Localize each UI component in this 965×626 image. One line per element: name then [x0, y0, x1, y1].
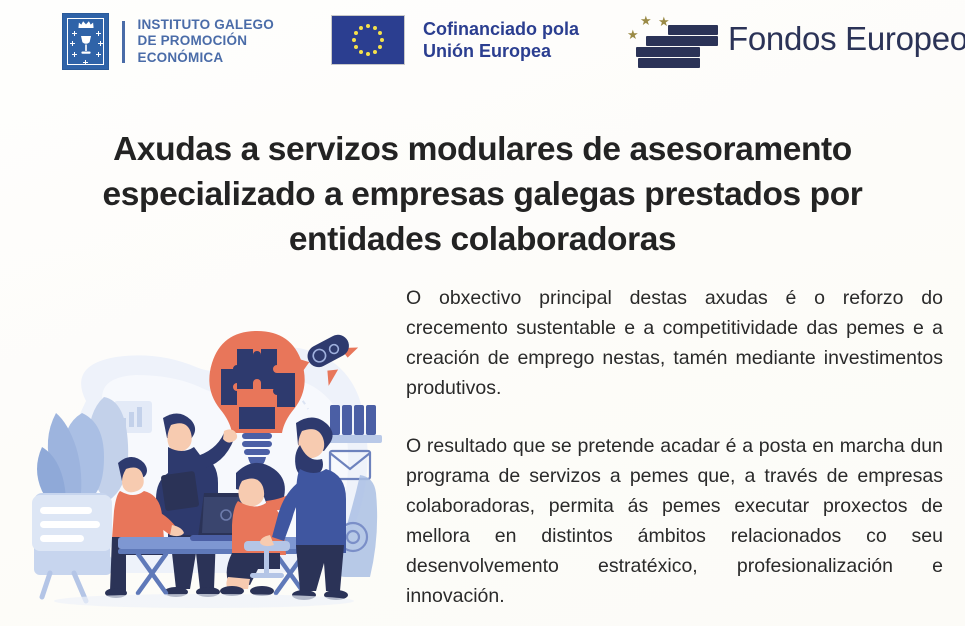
- team-collaboration-illustration: [8, 305, 400, 620]
- gold-star-icon: ★: [627, 28, 639, 41]
- paragraph-result: O resultado que se pretende acadar é a p…: [406, 431, 943, 611]
- eu-star-icon: [354, 45, 358, 49]
- eu-logo-text: Cofinanciado pola Unión Europea: [423, 18, 579, 62]
- eu-star-icon: [352, 38, 356, 42]
- title-line-1: Axudas a servizos modulares de asesorame…: [40, 127, 925, 172]
- igape-logo-text: INSTITUTO GALEGO DE PROMOCIÓN ECONÓMICA: [138, 17, 274, 67]
- galicia-coat-of-arms-icon: [62, 13, 109, 70]
- crown-icon: [77, 20, 94, 28]
- eu-star-icon: [378, 31, 382, 35]
- igape-logo: INSTITUTO GALEGO DE PROMOCIÓN ECONÓMICA: [62, 13, 274, 70]
- stair-bar: [668, 25, 718, 35]
- ground-shadow: [54, 594, 354, 608]
- igape-line-1: INSTITUTO GALEGO: [138, 17, 274, 34]
- eu-star-icon: [366, 24, 370, 28]
- logo-divider: [122, 21, 125, 63]
- gold-star-icon: ★: [640, 14, 652, 27]
- title-line-2: especializado a empresas galegas prestad…: [40, 172, 925, 217]
- title-line-3: entidades colaboradoras: [40, 217, 925, 262]
- stair-bar: [682, 47, 700, 57]
- fondos-europeos-logo: ★ ★ ★ Fondos Europeos: [622, 8, 965, 70]
- eu-star-icon: [373, 50, 377, 54]
- fondos-europeos-stairs-icon: ★ ★ ★: [622, 8, 718, 70]
- eu-line-1: Cofinanciado pola: [423, 18, 579, 40]
- chalice-icon: [78, 34, 94, 56]
- face: [122, 468, 144, 493]
- face: [167, 423, 191, 452]
- eu-star-icon: [373, 26, 377, 30]
- eu-star-icon: [380, 38, 384, 42]
- igape-line-3: ECONÓMICA: [138, 50, 274, 67]
- eu-cofinancing-logo: Cofinanciado pola Unión Europea: [331, 15, 579, 65]
- shirt: [296, 469, 346, 553]
- logo-bar: INSTITUTO GALEGO DE PROMOCIÓN ECONÓMICA …: [0, 0, 965, 88]
- eu-star-icon: [366, 52, 370, 56]
- office-chair-icon: [32, 495, 112, 601]
- eu-star-icon: [354, 31, 358, 35]
- eu-line-2: Unión Europea: [423, 40, 579, 62]
- trousers: [296, 545, 344, 591]
- stair-bar: [684, 36, 718, 46]
- poster-page: INSTITUTO GALEGO DE PROMOCIÓN ECONÓMICA …: [0, 0, 965, 626]
- face: [238, 479, 264, 507]
- eu-star-icon: [359, 26, 363, 30]
- body-text-column: O obxectivo principal destas axudas é o …: [406, 283, 943, 611]
- igape-line-2: DE PROMOCIÓN: [138, 33, 274, 50]
- paragraph-objective: O obxectivo principal destas axudas é o …: [406, 283, 943, 403]
- page-title: Axudas a servizos modulares de asesorame…: [40, 127, 925, 262]
- fondos-europeos-text: Fondos Europeos: [728, 21, 965, 57]
- illustration-svg: [8, 305, 400, 620]
- eu-star-icon: [378, 45, 382, 49]
- shelf-binders-icon: [326, 405, 382, 443]
- eu-flag-icon: [331, 15, 405, 65]
- eu-star-icon: [359, 50, 363, 54]
- stair-bar: [638, 58, 700, 68]
- laptop-icon: [161, 471, 200, 511]
